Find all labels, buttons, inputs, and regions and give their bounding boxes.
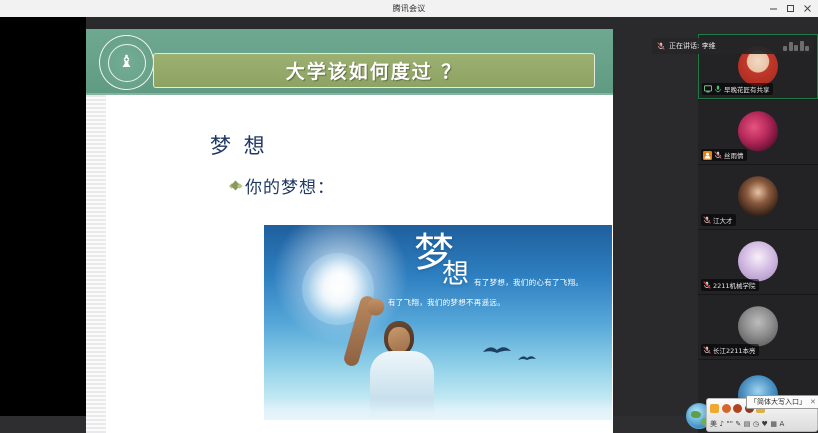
ime-key-7[interactable]: ♥ xyxy=(762,421,768,428)
participant-label-3: 江大才 xyxy=(701,214,736,226)
ime-key-4[interactable]: ✎ xyxy=(735,421,741,428)
mic-muted-icon xyxy=(703,346,711,354)
maximize-icon[interactable] xyxy=(782,0,799,17)
boy-face xyxy=(388,327,410,353)
ime-key-9[interactable]: А xyxy=(779,421,784,428)
mic-muted-icon xyxy=(703,281,711,289)
meeting-stage: ♝ 大学该如何度过 ？ 梦 想 你的梦想： xyxy=(0,17,818,433)
screen-share-icon xyxy=(704,85,712,93)
window-titlebar: 腾讯会议 xyxy=(0,0,818,17)
ime-key-3[interactable]: "" xyxy=(726,421,732,428)
close-icon[interactable]: ✕ xyxy=(810,399,816,406)
logo-glyph: ♝ xyxy=(119,54,134,71)
diamond-bullet-icon xyxy=(230,180,241,191)
ime-dot-2-icon[interactable] xyxy=(722,404,731,413)
avatar xyxy=(738,306,778,346)
ime-key-6[interactable]: ◷ xyxy=(753,421,759,428)
slide-decorative-stripes xyxy=(86,95,106,433)
mic-on-icon xyxy=(714,85,722,93)
avatar xyxy=(738,111,778,151)
app-root: 腾讯会议 ♝ 大学该如 xyxy=(0,0,818,433)
avatar xyxy=(738,241,778,281)
mic-muted-icon xyxy=(703,216,711,224)
mic-muted-icon xyxy=(714,151,722,159)
image-caption-line-1: 有了梦想，我们的心有了飞翔。 xyxy=(474,277,583,288)
boy-arm xyxy=(342,294,376,367)
close-icon[interactable] xyxy=(799,0,816,17)
ime-dot-1-icon[interactable] xyxy=(710,404,719,413)
university-logo-icon: ♝ xyxy=(99,35,154,90)
ime-tooltip-text: 「简体大写入口」 xyxy=(750,397,806,407)
bird-icon-2 xyxy=(517,353,537,363)
participant-tile-3[interactable]: 江大才 xyxy=(698,164,818,229)
participant-label-4: 2211机械学院 xyxy=(701,279,759,291)
slide-header-band: ♝ 大学该如何度过 ？ xyxy=(86,29,613,95)
participant-name-1: 早晚花匠有共享 xyxy=(724,84,770,94)
slide-title: 大学该如何度过 ？ xyxy=(286,57,463,84)
participant-label-1: 早晚花匠有共享 xyxy=(702,83,773,95)
image-big-char-2: 想 xyxy=(442,261,469,288)
ime-dot-3-icon[interactable] xyxy=(733,404,742,413)
image-horizon xyxy=(264,398,612,420)
image-caption-line-2: 有了飞翔，我们的梦想不再遥远。 xyxy=(388,297,505,308)
bird-icon-1 xyxy=(482,343,512,357)
mic-muted-icon xyxy=(657,42,665,50)
ime-tooltip: 「简体大写入口」 ✕ xyxy=(746,395,818,409)
stage-left-letterbox xyxy=(0,17,86,416)
audio-wave-icon xyxy=(783,41,809,51)
ime-key-1[interactable]: 美 xyxy=(710,421,717,428)
participant-label-2: 丝雨情 xyxy=(701,149,747,161)
slide-bullet-label: 你的梦想： xyxy=(245,173,335,198)
participant-panel: 早晚花匠有共享 丝雨情 江大才 xyxy=(698,34,818,433)
participant-name-5: 长江2211本亮 xyxy=(713,345,756,355)
window-controls xyxy=(765,0,816,17)
slide-title-plate: 大学该如何度过 ？ xyxy=(153,53,595,88)
slide-body: 梦 想 你的梦想： xyxy=(106,95,613,433)
ime-key-2[interactable]: ♪ xyxy=(720,421,724,428)
slide-bullet-item: 你的梦想： xyxy=(230,173,335,198)
participant-name-2: 丝雨情 xyxy=(724,150,744,160)
ime-key-8[interactable]: ▦ xyxy=(770,421,777,428)
window-title: 腾讯会议 xyxy=(393,3,426,14)
slide-heading: 梦 想 xyxy=(210,130,268,160)
slide-image-dream: 梦 想 有了梦想，我们的心有了飞翔。 有了飞翔，我们的梦想不再遥远。 xyxy=(264,225,612,420)
participant-tile-4[interactable]: 2211机械学院 xyxy=(698,229,818,294)
boy-hand xyxy=(365,297,386,318)
host-badge-icon xyxy=(703,151,712,160)
ime-row-bottom: 美 ♪ "" ✎ ▤ ◷ ♥ ▦ А xyxy=(710,417,814,431)
logo-inner-ring: ♝ xyxy=(108,44,146,82)
shared-slide[interactable]: ♝ 大学该如何度过 ？ 梦 想 你的梦想： xyxy=(86,29,613,433)
participant-label-5: 长江2211本亮 xyxy=(701,344,759,356)
participant-tile-2[interactable]: 丝雨情 xyxy=(698,99,818,164)
avatar xyxy=(738,176,778,216)
speaking-indicator: 正在讲话: 李维 xyxy=(652,38,814,54)
participant-name-3: 江大才 xyxy=(713,215,733,225)
ime-key-5[interactable]: ▤ xyxy=(744,421,751,428)
speaking-label: 正在讲话: 李维 xyxy=(669,41,716,51)
participant-tile-5[interactable]: 长江2211本亮 xyxy=(698,294,818,359)
participant-name-4: 2211机械学院 xyxy=(713,280,756,290)
minimize-icon[interactable] xyxy=(765,0,782,17)
ime-toolbar[interactable]: 美 ♪ "" ✎ ▤ ◷ ♥ ▦ А 「简体大写入口」 ✕ xyxy=(686,398,818,432)
